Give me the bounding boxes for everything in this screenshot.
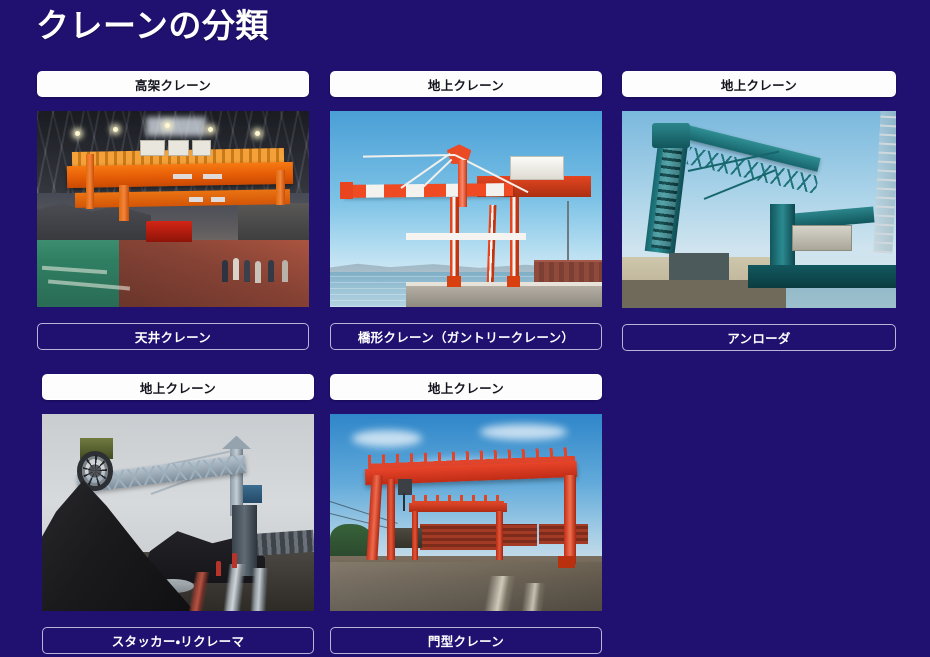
red-guide-rail: [167, 572, 254, 611]
travel-rail: [471, 583, 602, 611]
crane-control-cabinet: [192, 140, 211, 156]
crane-card-portal[interactable]: 地上クレーン: [330, 374, 602, 654]
photo-overhead-crane-factory-interior: [37, 111, 309, 307]
second-crane-leg: [496, 511, 503, 560]
card-bottom-label[interactable]: 天井クレーン: [37, 323, 309, 350]
crane-portal-beam: [406, 233, 526, 241]
page-title: クレーンの分類: [36, 6, 269, 46]
steel-coil-stack: [499, 524, 537, 546]
crane-leg-left-inner: [387, 479, 395, 560]
crane-end-truck: [276, 170, 284, 205]
crane-mast: [458, 160, 468, 207]
crane-bogie: [507, 276, 521, 288]
worker-figure: [255, 261, 261, 283]
crane-bogie: [558, 556, 574, 568]
card-bottom-label[interactable]: スタッカー・リクレーマ: [42, 627, 314, 654]
ceiling-lamp-icon: [75, 131, 80, 136]
wharf-deck: [406, 283, 602, 307]
unloader-machinery-house: [792, 225, 852, 251]
card-top-label[interactable]: 高架クレーン: [37, 71, 309, 97]
crane-end-truck: [86, 154, 94, 209]
crane-bogie: [447, 276, 461, 288]
photo-red-portal-goliath-crane: [330, 414, 602, 611]
cloud: [480, 424, 567, 440]
worker-figure: [244, 260, 250, 282]
girder-nameplate: [173, 174, 192, 179]
crane-machinery-house: [510, 156, 564, 180]
crane-card-unloader[interactable]: 地上クレーン アンローダ: [622, 71, 896, 351]
factory-floor-red: [119, 240, 309, 307]
crane-leg-right: [564, 475, 576, 564]
steel-coil-stack: [420, 524, 496, 550]
girder-nameplate: [211, 197, 225, 202]
crane-card-overhead[interactable]: 高架クレーン: [37, 71, 309, 350]
card-top-label[interactable]: 地上クレーン: [622, 71, 896, 97]
second-crane-leg: [412, 511, 419, 560]
elevator-head-machinery: [652, 123, 690, 149]
ceiling-lamp-icon: [113, 127, 118, 132]
worker-figure: [216, 561, 221, 576]
light-pole: [567, 201, 569, 264]
crane-card-stacker-reclaimer[interactable]: 地上クレーン スタッカー・リクレーマ: [42, 374, 314, 654]
crane-card-gantry[interactable]: 地上クレーン 橋形クレーン（ガントリ: [330, 71, 602, 350]
photo-port-gantry-container-crane: [330, 111, 602, 307]
operator-cab: [243, 485, 262, 503]
worker-figure: [232, 553, 237, 568]
card-bottom-label[interactable]: アンローダ: [622, 324, 896, 351]
worker-figure: [222, 260, 228, 282]
card-top-label[interactable]: 地上クレーン: [330, 71, 602, 97]
card-bottom-label[interactable]: 門型クレーン: [330, 627, 602, 654]
girder-nameplate: [203, 174, 222, 179]
worker-figure: [233, 258, 239, 280]
worker-figure: [268, 260, 274, 282]
red-locomotive: [146, 221, 192, 243]
card-top-label[interactable]: 地上クレーン: [42, 374, 314, 400]
crane-hook-block: [403, 493, 405, 511]
ceiling-lamp-icon: [165, 123, 170, 128]
bucket-wheel-spokes: [83, 455, 107, 487]
crane-boom-tip: [340, 182, 354, 200]
photo-stacker-reclaimer-coal-yard: [42, 414, 314, 611]
card-top-label[interactable]: 地上クレーン: [330, 374, 602, 400]
crane-control-cabinet: [140, 140, 164, 156]
ceiling-lamp-icon: [255, 131, 260, 136]
crane-control-cabinet: [168, 140, 190, 156]
crane-trolley-leg: [119, 185, 130, 220]
wharf-kerb: [406, 282, 602, 286]
second-gantry-girder: [409, 503, 507, 513]
girder-nameplate: [189, 197, 203, 202]
photo-continuous-ship-unloader: [622, 111, 896, 308]
crane-boom: [344, 183, 513, 197]
roof-skylight: [146, 117, 206, 137]
card-bottom-label[interactable]: 橋形クレーン（ガントリークレーン）: [330, 323, 602, 350]
worker-figure: [282, 260, 288, 282]
unloader-gantry-base: [748, 265, 896, 289]
